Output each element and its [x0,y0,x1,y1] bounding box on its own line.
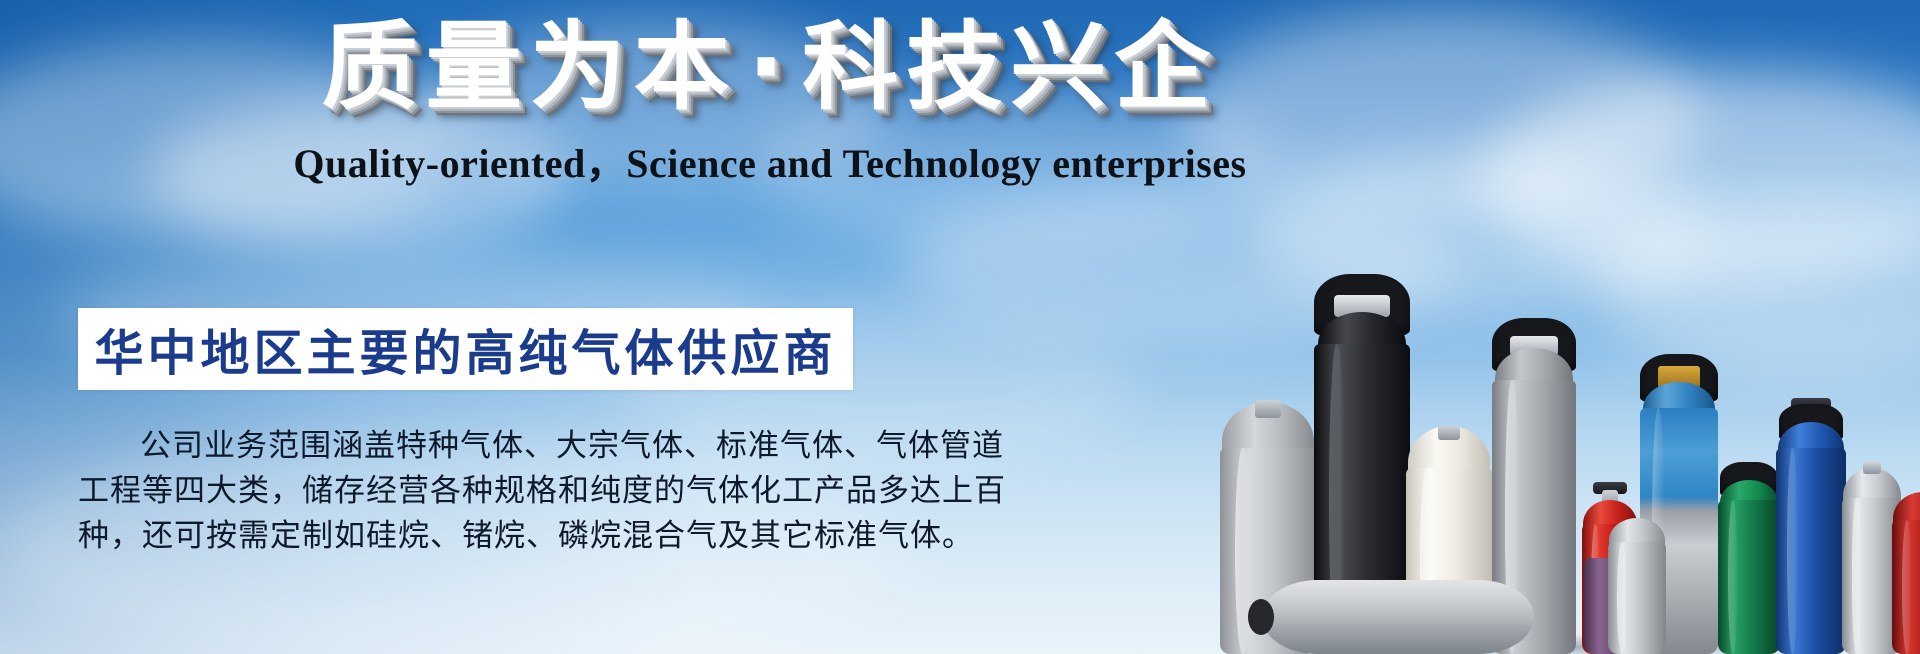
cylinder-aluminium-narrow [1608,528,1666,654]
highlight-box-text: 华中地区主要的高纯气体供应商 [94,314,836,385]
cylinder-green-small [1718,468,1780,654]
lying-tank-valve [1248,599,1274,635]
description-paragraph: 公司业务范围涵盖特种气体、大宗气体、标准气体、气体管道 工程等四大类，储存经营各… [78,424,868,559]
paragraph-line: 种，还可按需定制如硅烷、锗烷、磷烷混合气及其它标准气体。 [78,514,868,559]
cylinder-grey-lying [1262,580,1534,654]
headline-part-2: 科技兴企 [802,11,1218,123]
highlight-box: 华中地区主要的高纯气体供应商 [78,308,853,390]
headline-slogan: 质量为本·科技兴企 [322,16,1218,120]
headline-container: 质量为本·科技兴企 [0,16,1540,120]
paragraph-line: 工程等四大类，储存经营各种规格和纯度的气体化工产品多达上百 [78,469,868,514]
cylinder-dark-red [1892,502,1920,654]
gas-cylinder-group [1220,234,1920,654]
headline-separator: · [738,11,802,123]
cylinder-blue-navy [1776,400,1846,654]
headline-part-1: 质量为本 [322,11,738,123]
paragraph-line: 公司业务范围涵盖特种气体、大宗气体、标准气体、气体管道 [78,424,868,469]
subtitle-text: Quality-oriented，Science and Technology … [293,131,1246,189]
subtitle-container: Quality-oriented，Science and Technology … [0,131,1540,189]
promotional-banner: 质量为本·科技兴企 Quality-oriented，Science and T… [0,0,1920,654]
